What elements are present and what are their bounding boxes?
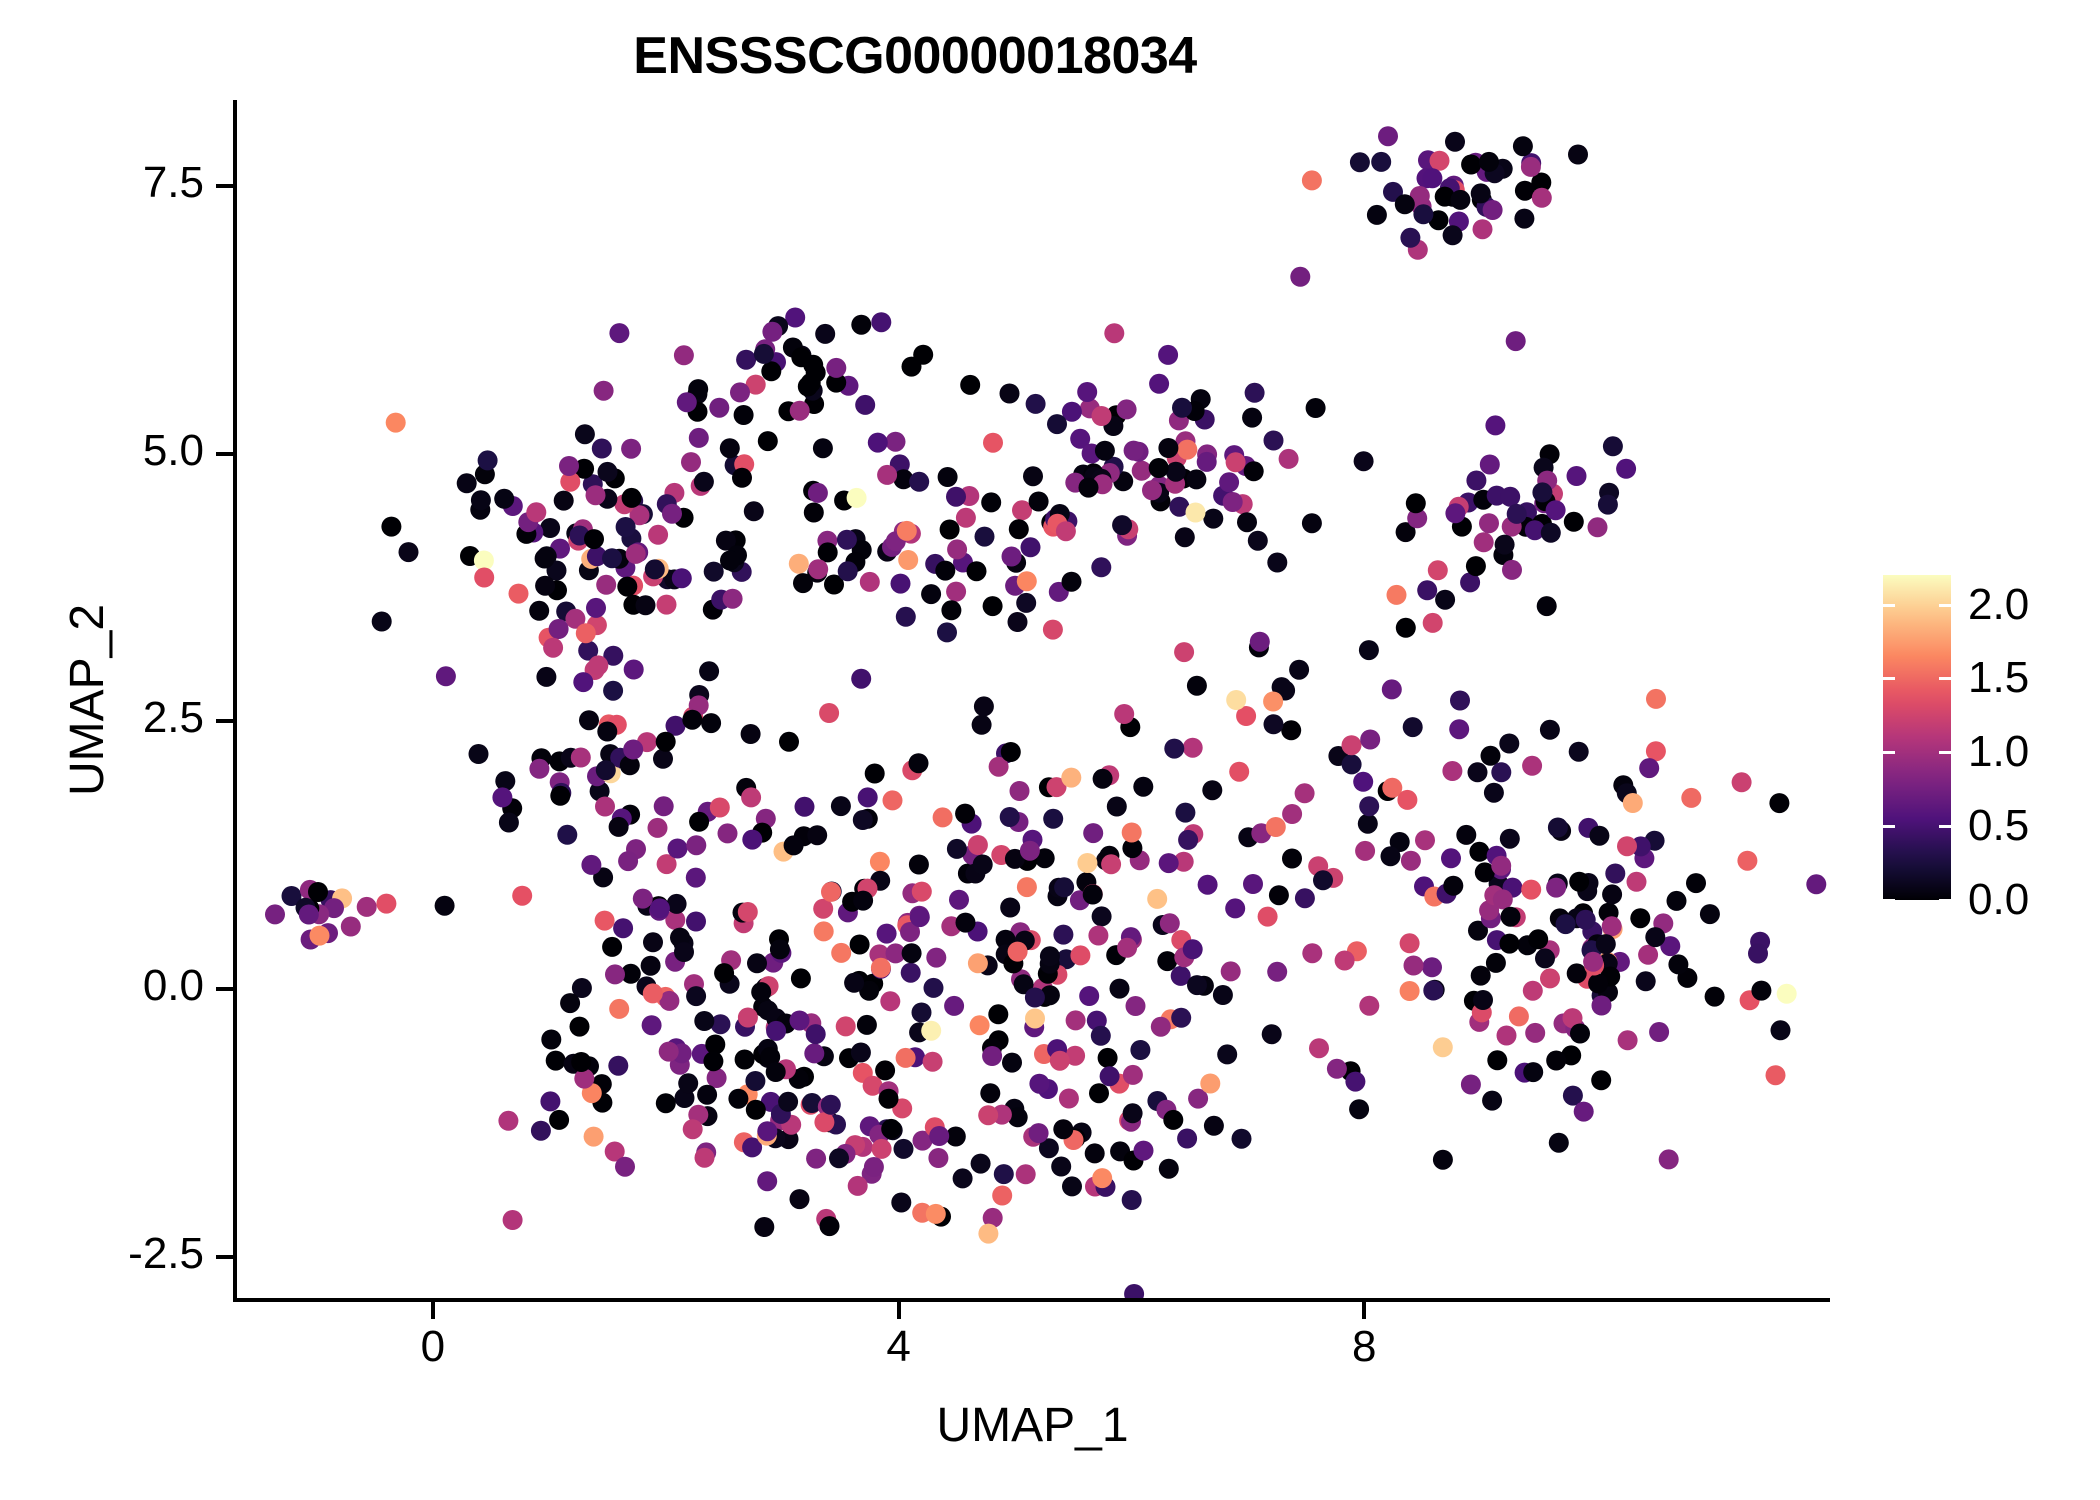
scatter-point: [883, 790, 903, 810]
scatter-point: [1480, 455, 1500, 475]
scatter-point: [1568, 145, 1588, 165]
scatter-point: [747, 953, 767, 973]
scatter-point: [901, 963, 921, 983]
scatter-point: [694, 472, 714, 492]
scatter-point: [891, 1193, 911, 1213]
scatter-point: [457, 473, 477, 493]
scatter-point: [1083, 823, 1103, 843]
scatter-point: [1732, 772, 1752, 792]
scatter-point: [865, 764, 885, 784]
scatter-point: [946, 487, 966, 507]
scatter-point: [1159, 1159, 1179, 1179]
scatter-point: [1417, 580, 1437, 600]
scatter-point: [1263, 692, 1283, 712]
scatter-point: [877, 924, 897, 944]
scatter-point: [499, 813, 519, 833]
scatter-point: [1244, 461, 1264, 481]
scatter-point: [757, 1121, 777, 1141]
page-title: ENSSSCG00000018034: [0, 26, 1830, 86]
scatter-point: [1413, 204, 1433, 224]
scatter-point: [677, 392, 697, 412]
scatter-point: [947, 839, 967, 859]
scatter-point: [1174, 642, 1194, 662]
umap-feature-plot: ENSSSCG00000018034 -2.50.02.55.07.5 048 …: [0, 0, 2100, 1500]
scatter-point: [1126, 996, 1146, 1016]
scatter-point: [1569, 872, 1589, 892]
scatter-point: [751, 982, 771, 1002]
scatter-point: [851, 669, 871, 689]
scatter-point: [1569, 742, 1589, 762]
scatter-point: [947, 539, 967, 559]
scatter-point: [645, 559, 665, 579]
scatter-point: [615, 1157, 635, 1177]
scatter-point: [701, 713, 721, 733]
scatter-point: [1117, 399, 1137, 419]
scatter-point: [738, 902, 758, 922]
scatter-point: [1596, 934, 1616, 954]
scatter-point: [1481, 746, 1501, 766]
scatter-point: [1088, 926, 1108, 946]
scatter-point: [818, 542, 838, 562]
scatter-point: [1806, 874, 1826, 894]
scatter-point: [650, 898, 670, 918]
scatter-point: [686, 986, 706, 1006]
scatter-point: [814, 921, 834, 941]
scatter-point: [1500, 829, 1520, 849]
scatter-point: [1602, 916, 1622, 936]
scatter-point: [1401, 851, 1421, 871]
scatter-point: [981, 492, 1001, 512]
scatter-point: [1433, 1150, 1453, 1170]
scatter-point: [1001, 742, 1021, 762]
colorbar-tick-label: 1.0: [1968, 727, 2029, 777]
scatter-point: [1771, 1020, 1791, 1040]
scatter-point: [581, 855, 601, 875]
scatter-point: [1415, 830, 1435, 850]
scatter-point: [723, 589, 743, 609]
scatter-point: [1525, 1023, 1545, 1043]
colorbar-tick-mark: [1939, 751, 1951, 754]
scatter-point: [1093, 769, 1113, 789]
scatter-point: [536, 667, 556, 687]
scatter-point: [529, 601, 549, 621]
scatter-point: [1484, 783, 1504, 803]
scatter-point: [1382, 679, 1402, 699]
scatter-point: [595, 797, 615, 817]
scatter-point: [877, 465, 897, 485]
scatter-point: [498, 1111, 518, 1131]
scatter-point: [785, 308, 805, 328]
scatter-point: [1449, 719, 1469, 739]
scatter-point: [1638, 945, 1658, 965]
scatter-point: [1091, 557, 1111, 577]
scatter-point: [741, 787, 761, 807]
scatter-point: [642, 1015, 662, 1035]
scatter-point: [1681, 788, 1701, 808]
scatter-point: [758, 431, 778, 451]
scatter-point: [1107, 797, 1127, 817]
scatter-point: [1359, 796, 1379, 816]
scatter-point: [1400, 228, 1420, 248]
scatter-point: [894, 1139, 914, 1159]
colorbar-tick-mark: [1939, 604, 1951, 607]
scatter-point: [1342, 735, 1362, 755]
scatter-point: [1117, 938, 1137, 958]
scatter-point: [1482, 1091, 1502, 1111]
scatter-point: [960, 375, 980, 395]
scatter-point: [1262, 1024, 1282, 1044]
scatter-point: [1686, 873, 1706, 893]
scatter-point: [1769, 793, 1789, 813]
scatter-point: [543, 638, 563, 658]
scatter-point: [1345, 1072, 1365, 1092]
scatter-point: [662, 504, 682, 524]
scatter-point: [512, 886, 532, 906]
scatter-point: [686, 835, 706, 855]
scatter-point: [1053, 925, 1073, 945]
scatter-point: [779, 732, 799, 752]
scatter-point: [1186, 503, 1206, 523]
scatter-point: [1381, 846, 1401, 866]
colorbar-tick-label: 1.5: [1968, 653, 2029, 703]
scatter-point: [1282, 804, 1302, 824]
scatter-point: [1567, 466, 1587, 486]
scatter-point: [656, 732, 676, 752]
scatter-point: [784, 835, 804, 855]
scatter-point: [807, 825, 827, 845]
colorbar-tick-mark: [1939, 825, 1951, 828]
scatter-point: [766, 1062, 786, 1082]
scatter-point: [1175, 527, 1195, 547]
scatter-point: [1095, 441, 1115, 461]
scatter-point: [1493, 889, 1513, 909]
scatter-point: [603, 681, 623, 701]
scatter-point: [926, 948, 946, 968]
scatter-point: [929, 1126, 949, 1146]
scatter-point: [789, 554, 809, 574]
scatter-point: [738, 1008, 758, 1028]
scatter-point: [570, 1017, 590, 1037]
scatter-point: [1623, 793, 1643, 813]
scatter-point: [870, 852, 890, 872]
scatter-point: [695, 1148, 715, 1168]
scatter-point: [1521, 157, 1541, 177]
scatter-point: [844, 973, 864, 993]
scatter-point: [575, 424, 595, 444]
scatter-point: [913, 345, 933, 365]
scatter-point: [898, 550, 918, 570]
scatter-point: [1485, 415, 1505, 435]
scatter-point: [586, 485, 606, 505]
scatter-point: [1282, 849, 1302, 869]
scatter-point: [265, 904, 285, 924]
scatter-point: [1070, 945, 1090, 965]
scatter-point: [686, 868, 706, 888]
scatter-point: [928, 1148, 948, 1168]
scatter-point: [795, 797, 815, 817]
scatter-point: [1295, 888, 1315, 908]
scatter-point: [754, 344, 774, 364]
scatter-point: [678, 1073, 698, 1093]
scatter-point: [1114, 704, 1134, 724]
scatter-point: [386, 413, 406, 433]
scatter-point: [1092, 1168, 1112, 1188]
scatter-point: [573, 672, 593, 692]
scatter-point: [1198, 875, 1218, 895]
scatter-point: [1016, 1164, 1036, 1184]
scatter-point: [836, 1016, 856, 1036]
scatter-point: [1110, 979, 1130, 999]
scatter-points: [235, 100, 1830, 1300]
scatter-point: [1158, 438, 1178, 458]
scatter-point: [933, 807, 953, 827]
scatter-point: [1400, 981, 1420, 1001]
scatter-point: [1217, 1044, 1237, 1064]
scatter-point: [656, 1093, 676, 1113]
scatter-point: [983, 433, 1003, 453]
scatter-point: [1017, 877, 1037, 897]
scatter-point: [1535, 948, 1555, 968]
scatter-point: [801, 373, 821, 393]
scatter-point: [672, 568, 692, 588]
y-tick-mark: [216, 987, 233, 991]
scatter-point: [1588, 517, 1608, 537]
scatter-point: [982, 1046, 1002, 1066]
scatter-point: [855, 395, 875, 415]
scatter-point: [1469, 842, 1489, 862]
scatter-point: [1521, 880, 1541, 900]
scatter-point: [813, 438, 833, 458]
scatter-point: [1016, 593, 1036, 613]
scatter-point: [1083, 885, 1103, 905]
scatter-point: [492, 787, 512, 807]
scatter-point: [714, 963, 734, 983]
scatter-point: [560, 993, 580, 1013]
colorbar-tick-mark: [1883, 677, 1895, 680]
scatter-point: [1133, 777, 1153, 797]
scatter-point: [1020, 841, 1040, 861]
scatter-point: [1461, 1075, 1481, 1095]
scatter-point: [829, 1148, 849, 1168]
scatter-point: [745, 1071, 765, 1091]
scatter-point: [1266, 817, 1286, 837]
scatter-point: [554, 491, 574, 511]
scatter-point: [1639, 758, 1659, 778]
scatter-point: [1556, 914, 1576, 934]
scatter-point: [886, 432, 906, 452]
scatter-point: [897, 521, 917, 541]
scatter-point: [597, 722, 617, 742]
scatter-point: [1269, 885, 1289, 905]
scatter-point: [1588, 973, 1608, 993]
scatter-point: [1025, 988, 1045, 1008]
scatter-point: [858, 787, 878, 807]
scatter-point: [643, 932, 663, 952]
scatter-point: [704, 562, 724, 582]
x-tick-label: 0: [421, 1322, 445, 1372]
scatter-point: [853, 891, 873, 911]
scatter-point: [1183, 738, 1203, 758]
scatter-point: [937, 622, 957, 642]
scatter-point: [983, 596, 1003, 616]
scatter-point: [1177, 440, 1197, 460]
scatter-point: [586, 598, 606, 618]
scatter-point: [648, 818, 668, 838]
scatter-point: [1445, 503, 1465, 523]
scatter-point: [1546, 1051, 1566, 1071]
scatter-point: [968, 835, 988, 855]
scatter-point: [974, 696, 994, 716]
scatter-point: [1358, 814, 1378, 834]
scatter-point: [1186, 469, 1206, 489]
scatter-point: [804, 503, 824, 523]
scatter-point: [509, 584, 529, 604]
scatter-point: [1514, 209, 1534, 229]
scatter-point: [730, 382, 750, 402]
scatter-point: [1349, 1099, 1369, 1119]
scatter-point: [1302, 170, 1322, 190]
scatter-point: [924, 978, 944, 998]
scatter-point: [940, 520, 960, 540]
scatter-point: [1591, 1070, 1611, 1090]
scatter-point: [1183, 939, 1203, 959]
scatter-point: [469, 744, 489, 764]
scatter-point: [592, 439, 612, 459]
scatter-point: [1589, 826, 1609, 846]
scatter-point: [1112, 515, 1132, 535]
scatter-point: [956, 508, 976, 528]
scatter-point: [1404, 956, 1424, 976]
scatter-point: [1008, 612, 1028, 632]
scatter-point: [837, 530, 857, 550]
scatter-point: [720, 438, 740, 458]
scatter-point: [689, 428, 709, 448]
scatter-point: [880, 991, 900, 1011]
scatter-point: [1473, 219, 1493, 239]
scatter-point: [1435, 590, 1455, 610]
scatter-point: [686, 912, 706, 932]
scatter-point: [938, 467, 958, 487]
scatter-point: [941, 600, 961, 620]
scatter-point: [641, 956, 661, 976]
scatter-point: [1025, 1009, 1045, 1029]
scatter-point: [814, 1112, 834, 1132]
scatter-point: [503, 1210, 523, 1230]
scatter-point: [1359, 996, 1379, 1016]
scatter-point: [1537, 596, 1557, 616]
scatter-point: [617, 577, 637, 597]
scatter-point: [550, 786, 570, 806]
scatter-point: [879, 1089, 899, 1109]
x-axis-line: [235, 1298, 1830, 1302]
scatter-point: [1532, 482, 1552, 502]
scatter-point: [1290, 267, 1310, 287]
scatter-point: [718, 823, 738, 843]
scatter-point: [923, 1052, 943, 1072]
scatter-point: [622, 488, 642, 508]
y-tick-label: 2.5: [143, 693, 204, 743]
scatter-point: [1473, 990, 1493, 1010]
scatter-point: [1008, 942, 1028, 962]
scatter-point: [967, 561, 987, 581]
scatter-point: [1403, 717, 1423, 737]
scatter-point: [602, 937, 622, 957]
scatter-point: [1200, 1074, 1220, 1094]
scatter-point: [1700, 904, 1720, 924]
scatter-point: [1751, 981, 1771, 1001]
scatter-point: [1264, 431, 1284, 451]
scatter-point: [909, 472, 929, 492]
scatter-point: [1010, 781, 1030, 801]
scatter-point: [1171, 1008, 1191, 1028]
scatter-point: [1079, 478, 1099, 498]
scatter-point: [1359, 640, 1379, 660]
scatter-point: [1486, 953, 1506, 973]
scatter-point: [588, 655, 608, 675]
scatter-point: [609, 999, 629, 1019]
scatter-point: [1149, 458, 1169, 478]
scatter-point: [648, 525, 668, 545]
scatter-point: [1483, 200, 1503, 220]
scatter-point: [1203, 509, 1223, 529]
scatter-point: [310, 926, 330, 946]
scatter-point: [1123, 1065, 1143, 1085]
scatter-point: [1017, 571, 1037, 591]
scatter-point: [1187, 676, 1207, 696]
scatter-point: [1748, 944, 1768, 964]
scatter-point: [909, 753, 929, 773]
scatter-point: [1548, 818, 1568, 838]
scatter-point: [860, 572, 880, 592]
scatter-point: [1062, 1176, 1082, 1196]
scatter-point: [1258, 907, 1278, 927]
scatter-point: [1250, 632, 1270, 652]
scatter-point: [602, 548, 622, 568]
scatter-point: [1495, 535, 1515, 555]
scatter-point: [1123, 1103, 1143, 1123]
scatter-point: [1158, 345, 1178, 365]
scatter-point: [1466, 471, 1486, 491]
scatter-point: [598, 462, 618, 482]
scatter-point: [436, 666, 456, 686]
scatter-point: [853, 810, 873, 830]
colorbar-tick-label: 0.5: [1968, 801, 2029, 851]
scatter-point: [471, 490, 491, 510]
scatter-point: [1479, 513, 1499, 533]
scatter-point: [1009, 519, 1029, 539]
scatter-point: [1267, 962, 1287, 982]
scatter-point: [1406, 493, 1426, 513]
scatter-point: [791, 347, 811, 367]
scatter-point: [1501, 907, 1521, 927]
x-tick-mark: [897, 1302, 901, 1319]
scatter-point: [633, 889, 653, 909]
scatter-point: [668, 839, 688, 859]
scatter-point: [1598, 495, 1618, 515]
scatter-point: [1302, 513, 1322, 533]
scatter-point: [1177, 1129, 1197, 1149]
scatter-point: [1043, 620, 1063, 640]
scatter-point: [571, 748, 591, 768]
scatter-point: [667, 894, 687, 914]
scatter-point: [546, 1051, 566, 1071]
scatter-point: [728, 1089, 748, 1109]
scatter-point: [1142, 480, 1162, 500]
colorbar-tick-mark: [1883, 899, 1895, 902]
scatter-point: [791, 968, 811, 988]
scatter-point: [594, 381, 614, 401]
scatter-point: [526, 502, 546, 522]
